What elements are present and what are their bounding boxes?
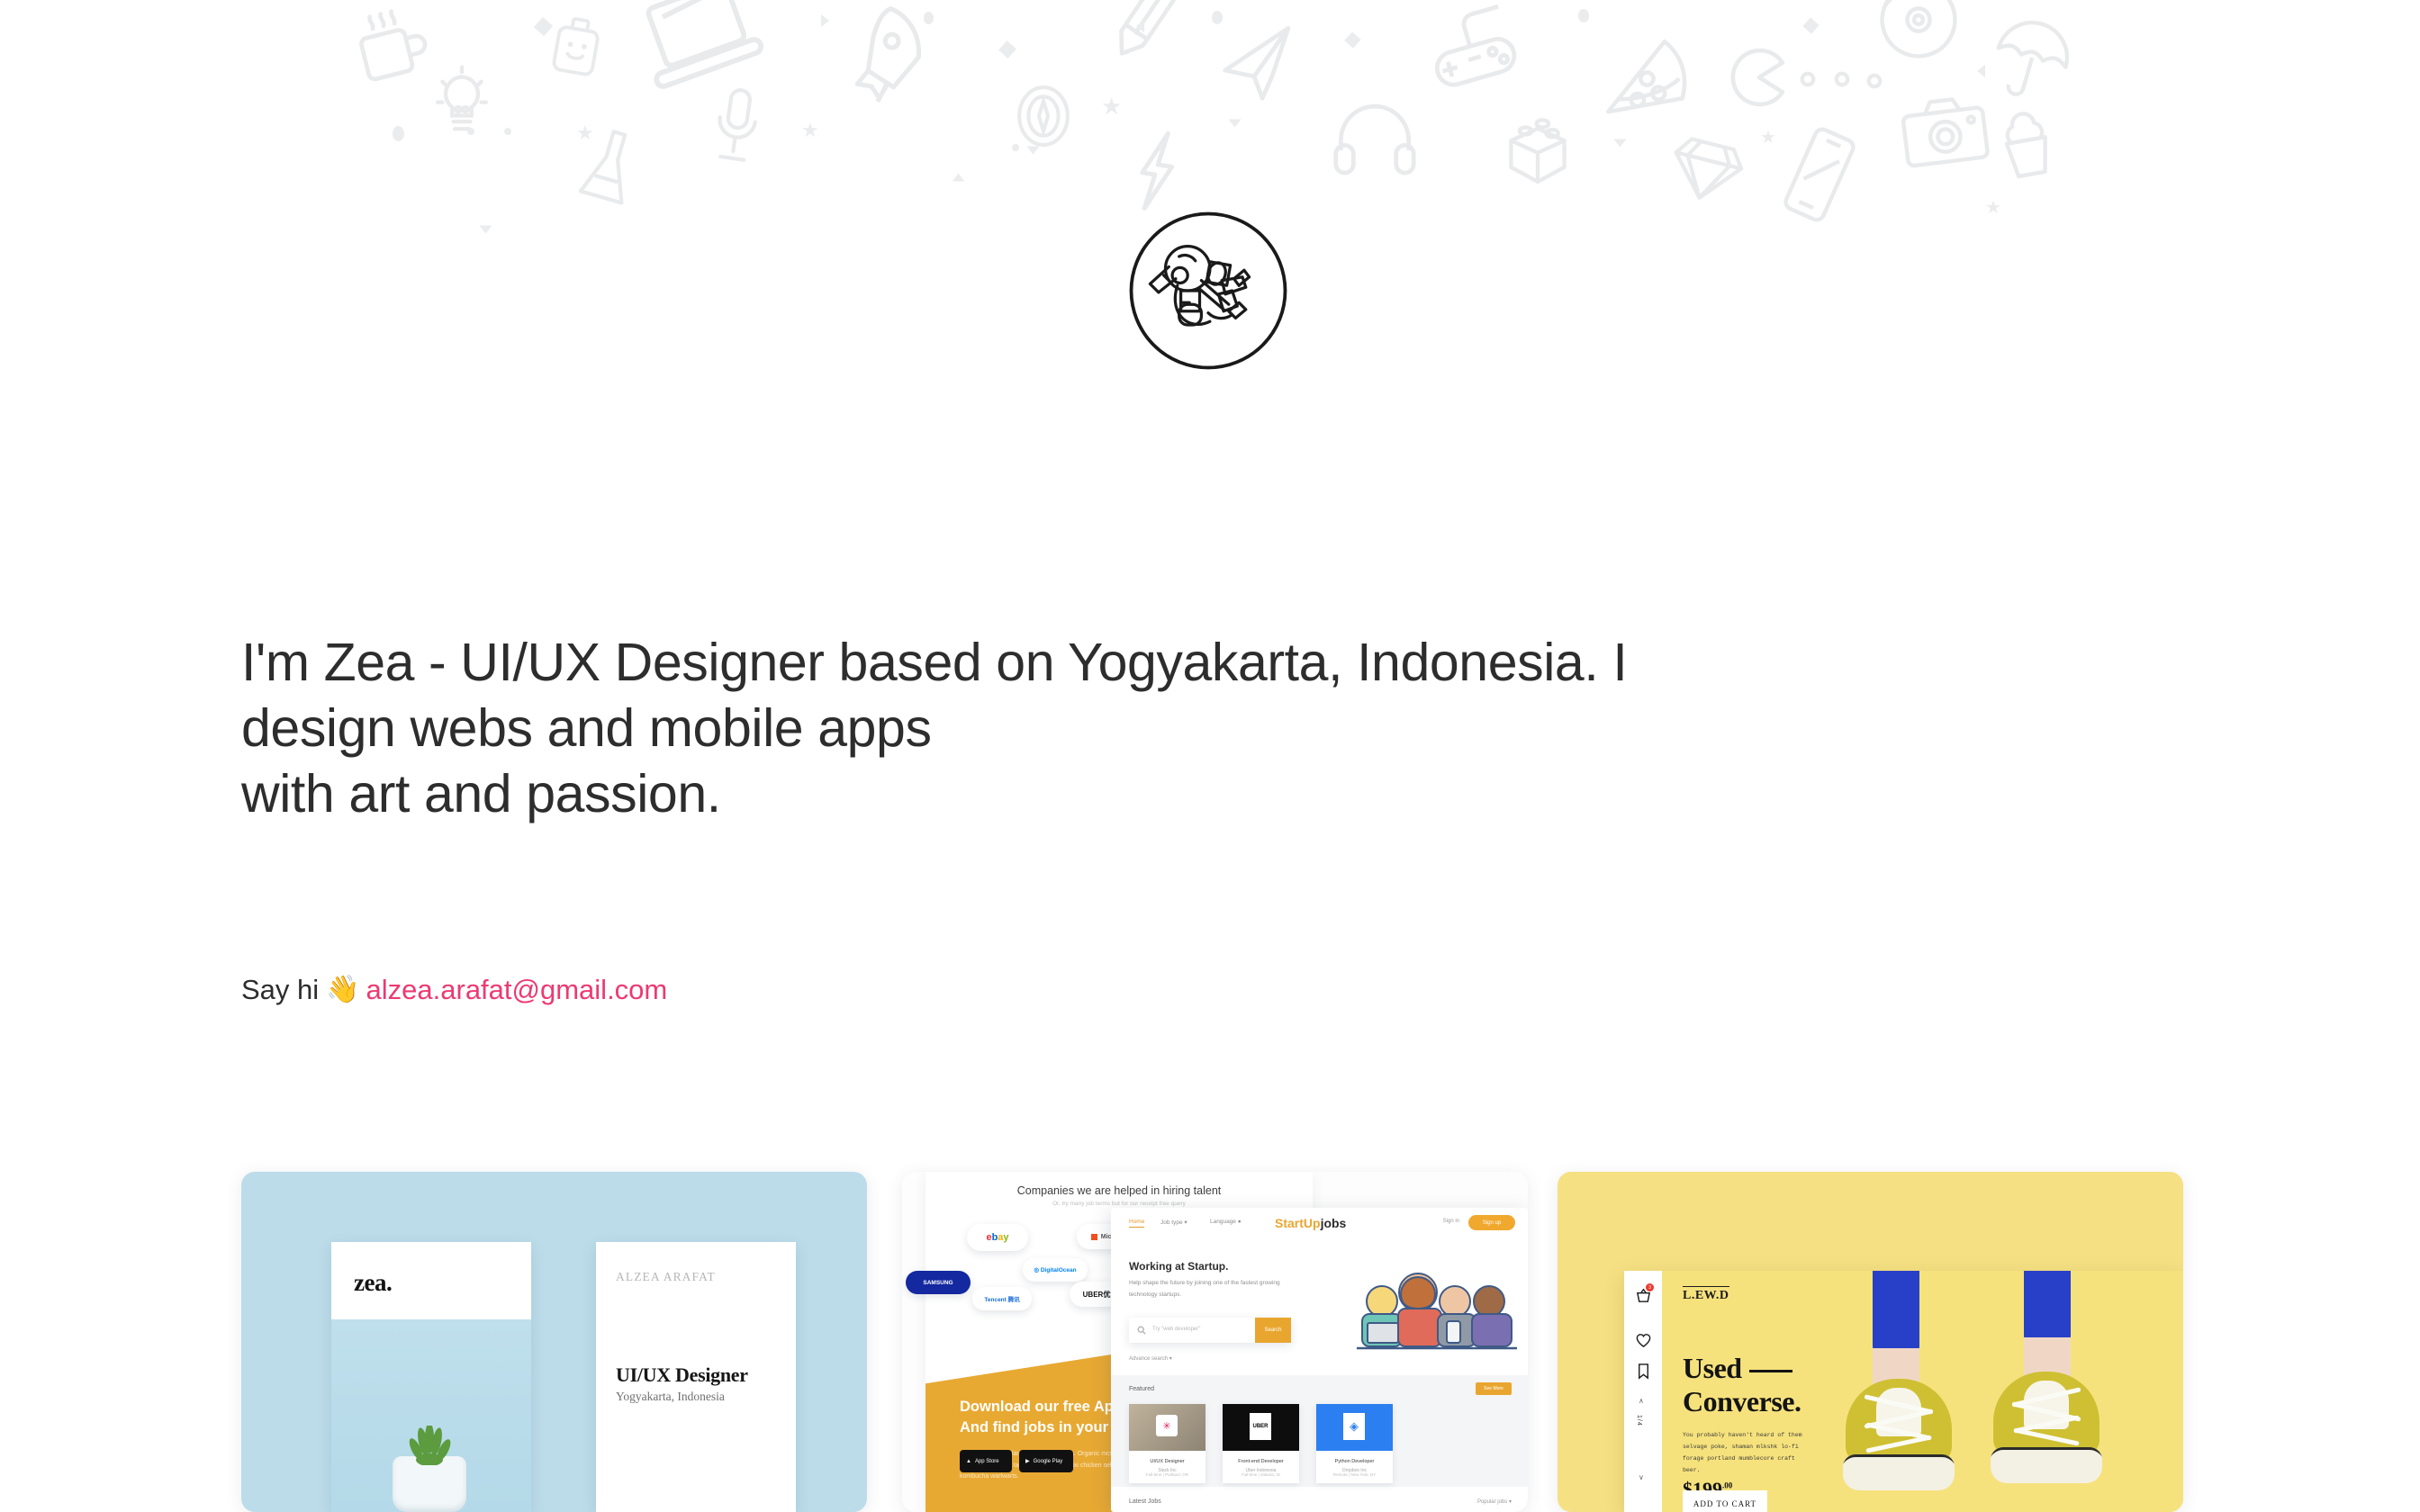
heart-icon[interactable]: [1635, 1332, 1652, 1349]
dropbox-icon: ◈: [1343, 1413, 1365, 1440]
portfolio-card-ecommerce[interactable]: 3 ∧ 1/4 ∨ L.EW.D Used Converse. Yo: [1558, 1172, 2183, 1512]
coffee-mug-icon: [344, 0, 441, 96]
person-role: UI/UX Designer: [616, 1363, 748, 1387]
sparkle-triangle: [480, 226, 492, 234]
job-thumbnail: UBER: [1223, 1404, 1299, 1451]
job-thumbnail: ✳: [1129, 1404, 1205, 1451]
nav-job-type[interactable]: Job type ▾: [1160, 1219, 1187, 1226]
cupcake-icon: [1988, 101, 2064, 186]
sign-in-link[interactable]: Sign in: [1443, 1219, 1459, 1224]
smartphone-icon: [1774, 119, 1865, 230]
pacman-icon: [1729, 47, 1790, 108]
featured-jobs-section: Featured See More ✳ UI/UX Designer Slack…: [1111, 1375, 1528, 1487]
paper-plane-icon: [1215, 22, 1305, 112]
contact-prefix: Say hi: [241, 973, 319, 1006]
headphones-icon: [1333, 99, 1416, 176]
nav-home[interactable]: Home: [1129, 1219, 1144, 1228]
sparkle-square: [534, 17, 553, 36]
search-icon: [1137, 1326, 1146, 1335]
right-shoe: [1993, 1372, 2099, 1483]
person-name: ALZEA ARAFAT: [616, 1270, 716, 1284]
product-description: You probably haven't heard of them selva…: [1683, 1429, 1809, 1476]
sparkle-dot: [393, 126, 404, 141]
sparkle-dot: [1212, 11, 1223, 24]
latest-jobs-label: Latest Jobs: [1129, 1498, 1161, 1505]
pacman-dot-icon: [1799, 70, 1817, 88]
search-placeholder: Try "web developer": [1152, 1327, 1200, 1332]
right-leg: [2024, 1271, 2071, 1343]
company-logo-ebay: ebay: [967, 1224, 1028, 1251]
next-arrow-icon[interactable]: ∨: [1639, 1473, 1644, 1481]
sparkle-dot: [467, 128, 474, 135]
pencil-icon: [1086, 0, 1204, 81]
search-button[interactable]: Search: [1255, 1318, 1291, 1343]
page-title: I'm Zea - UI/UX Designer based on Yogyak…: [241, 630, 2132, 827]
companies-subtitle: Or, try many job terms but for our recei…: [926, 1201, 1313, 1207]
google-play-button[interactable]: ▶ Google Play: [1019, 1450, 1073, 1472]
portfolio-card-startupjobs[interactable]: Companies we are helped in hiring talent…: [902, 1172, 1528, 1512]
companies-title: Companies we are helped in hiring talent: [926, 1184, 1313, 1197]
plant-photo: [331, 1319, 531, 1512]
job-meta: Full-time | Jakarta, ID: [1223, 1472, 1299, 1477]
succulent-plant: [402, 1426, 457, 1465]
slack-icon: ✳: [1156, 1415, 1178, 1436]
sparkle-dot: [1578, 9, 1589, 22]
job-title: Python Developer: [1316, 1459, 1393, 1464]
see-more-button[interactable]: See More: [1476, 1382, 1512, 1395]
website-mockup: Home Job type ▾ Language ● StartUpjobs S…: [1111, 1208, 1528, 1512]
lightning-bolt-icon: [1130, 125, 1184, 217]
job-meta: Remote | New York, NY: [1316, 1472, 1393, 1477]
companies-heading: Companies we are helped in hiring talent…: [926, 1184, 1313, 1207]
job-meta: Full-time | Portland, OR: [1129, 1472, 1205, 1477]
pacman-dot-icon: [1833, 70, 1851, 88]
site-hero-subtitle: Help shape the future by joining one of …: [1129, 1278, 1305, 1300]
lego-head-icon: [545, 13, 608, 85]
pizza-icon: [1598, 24, 1703, 141]
lightbulb-icon: [434, 65, 490, 142]
site-nav: Home Job type ▾ Language ● StartUpjobs S…: [1111, 1208, 1528, 1238]
left-leg: [1873, 1271, 1919, 1354]
job-search-box[interactable]: Try "web developer" Search: [1129, 1318, 1291, 1343]
team-illustration: [1351, 1258, 1522, 1353]
sparkle-triangle: [821, 14, 829, 27]
sparkle-square: [1802, 17, 1819, 33]
email-link[interactable]: alzea.arafat@gmail.com: [366, 973, 668, 1006]
contact-line: Say hi 👋 alzea.arafat@gmail.com: [241, 973, 667, 1006]
umbrella-icon: [1982, 11, 2080, 112]
headline-line-2: design webs and mobile apps: [241, 696, 2132, 761]
nav-language[interactable]: Language ●: [1210, 1219, 1242, 1225]
job-card[interactable]: UBER Front-end Developer Uber Indonesia …: [1223, 1404, 1299, 1483]
advance-search-toggle[interactable]: Advance search ▾: [1129, 1355, 1172, 1362]
brand-logo-text: zea.: [354, 1269, 392, 1297]
app-store-button[interactable]: ▲ App Store: [960, 1450, 1012, 1472]
left-shoe: [1846, 1379, 1952, 1490]
rocket-icon: [837, 0, 950, 112]
headline-line-3: with art and passion.: [241, 761, 2132, 827]
sparkle-triangle: [1027, 147, 1040, 155]
pagination-indicator: 1/4: [1636, 1415, 1642, 1426]
portfolio-grid: zea. ALZEA: [0, 1172, 2420, 1512]
shop-page-mockup: 3 ∧ 1/4 ∨ L.EW.D Used Converse. Yo: [1624, 1271, 2183, 1512]
job-title: Front-end Developer: [1223, 1459, 1299, 1464]
cart-count-badge: 3: [1646, 1283, 1654, 1291]
portfolio-card-branding[interactable]: zea. ALZEA: [241, 1172, 867, 1512]
pacman-dot-icon: [1865, 72, 1883, 90]
product-title: Used Converse.: [1683, 1352, 1801, 1419]
company-logo-digitalocean: ◎ DigitalOcean: [1023, 1258, 1088, 1282]
add-to-cart-button[interactable]: ADD TO CART: [1683, 1490, 1767, 1512]
person-location: Yogyakarta, Indonesia: [616, 1390, 725, 1404]
title-dash: [1749, 1370, 1792, 1372]
waving-hand-icon: 👋: [326, 974, 359, 1006]
site-hero-title: Working at Startup.: [1129, 1260, 1228, 1273]
sparkle-triangle: [953, 174, 965, 182]
camera-icon: [1895, 86, 1994, 175]
featured-label: Featured: [1129, 1386, 1154, 1392]
microphone-icon: [706, 84, 767, 173]
sparkle-dot: [1012, 144, 1019, 151]
job-title: UI/UX Designer: [1129, 1459, 1205, 1464]
company-logo-tencent: Tencent 腾讯: [972, 1287, 1032, 1310]
sparkle-dot: [924, 12, 934, 24]
gamepad-icon: [1418, 0, 1538, 105]
job-card[interactable]: ◈ Python Developer Dropbox Inc Remote | …: [1316, 1404, 1393, 1483]
site-logo[interactable]: StartUpjobs: [1275, 1216, 1346, 1230]
shop-side-rail: 3 ∧ 1/4 ∨: [1624, 1271, 1662, 1512]
astronaut-logo[interactable]: [1123, 205, 1294, 376]
sparkle-square: [1344, 31, 1360, 48]
popular-jobs-filter[interactable]: Popular jobs ▾: [1477, 1498, 1512, 1505]
job-thumbnail: ◈: [1316, 1404, 1393, 1451]
diamond-icon: [1663, 128, 1750, 215]
company-logo-samsung: SAMSUNG: [906, 1271, 971, 1294]
uber-icon: UBER: [1250, 1413, 1271, 1440]
laptop-icon: [622, 0, 777, 112]
sparkle-triangle: [1614, 139, 1627, 148]
sparkle-dot: [504, 128, 511, 135]
headline-line-1: I'm Zea - UI/UX Designer based on Yogyak…: [241, 630, 2132, 696]
sparkle-square: [998, 40, 1016, 58]
sparkle-triangle: [1977, 65, 1985, 77]
product-photo: [1817, 1271, 2183, 1512]
product-title-line-1: Used: [1683, 1352, 1742, 1384]
job-card[interactable]: ✳ UI/UX Designer Slack Inc Full-time | P…: [1129, 1404, 1205, 1483]
product-title-line-2: Converse.: [1683, 1385, 1801, 1417]
bookmark-icon[interactable]: [1635, 1363, 1652, 1380]
brand-sheet-back: ALZEA ARAFAT UI/UX Designer Yogyakarta, …: [596, 1242, 796, 1512]
compass-icon: [1015, 83, 1072, 149]
sparkle-triangle: [1229, 120, 1242, 128]
cd-icon: [1865, 0, 1973, 74]
flask-icon: [571, 120, 649, 215]
brand-sheet-front: zea.: [331, 1242, 531, 1512]
prev-arrow-icon[interactable]: ∧: [1639, 1397, 1644, 1405]
lego-brick-icon: [1503, 112, 1572, 189]
sign-up-button[interactable]: Sign up: [1468, 1215, 1515, 1230]
portfolio-landing-page: I'm Zea - UI/UX Designer based on Yogyak…: [0, 0, 2420, 1512]
shop-brand: L.EW.D: [1683, 1286, 1729, 1303]
sparkle-triangle: [1136, 20, 1144, 32]
